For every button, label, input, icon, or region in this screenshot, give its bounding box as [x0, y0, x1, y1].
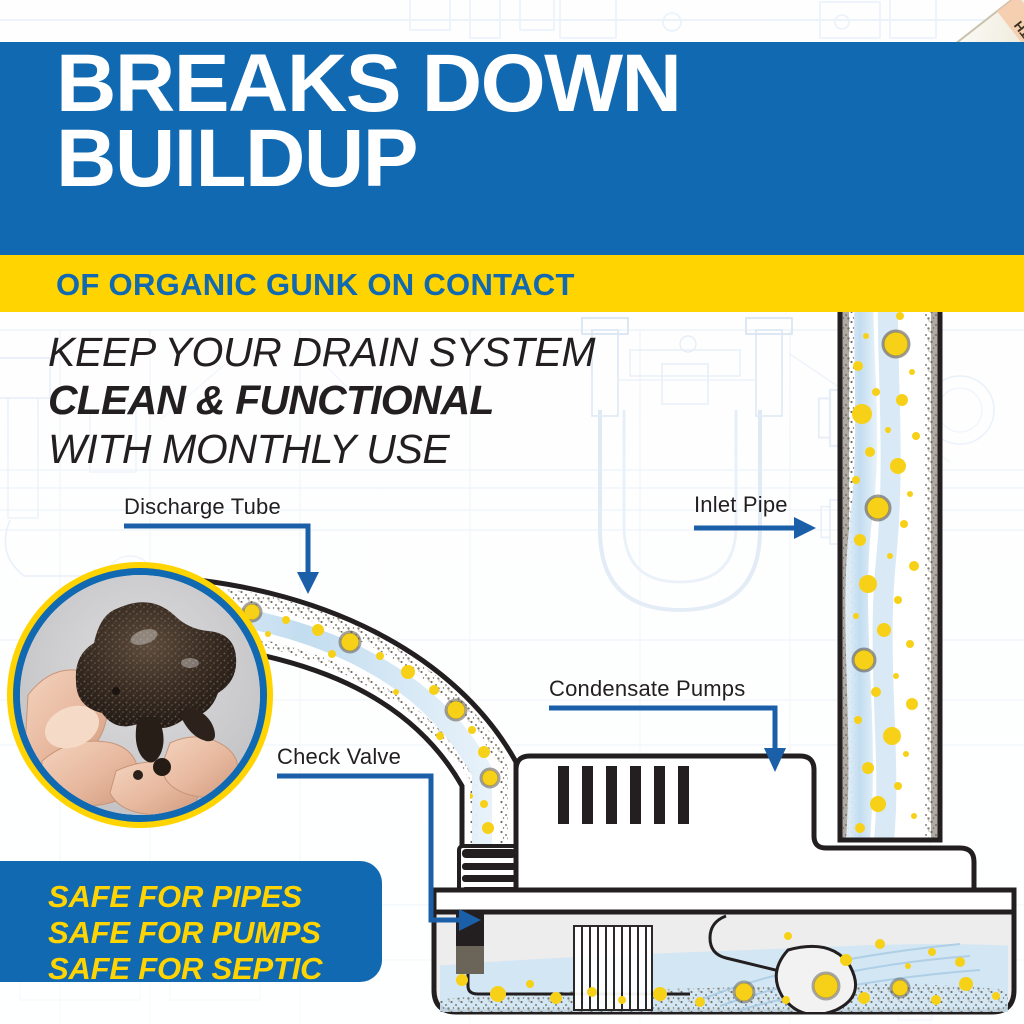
badge-line-1: SAFE FOR PIPES — [48, 879, 322, 915]
callout-label-inlet-pipe: Inlet Pipe — [694, 492, 824, 518]
tagline-block: KEEP YOUR DRAIN SYSTEM CLEAN & FUNCTIONA… — [48, 328, 668, 473]
condensate-pumps-leader-arrow — [549, 702, 789, 782]
condensate-pump-graphic — [434, 756, 1014, 1015]
sludge-photo-inset — [7, 562, 273, 828]
page-headline: BREAKS DOWN BUILDUP — [56, 46, 954, 197]
tagline-line-2: CLEAN & FUNCTIONAL — [48, 376, 668, 424]
subheadline-text: OF ORGANIC GUNK ON CONTACT — [56, 267, 575, 303]
callout-label-discharge-tube: Discharge Tube — [124, 494, 324, 520]
callout-inlet-pipe: Inlet Pipe — [694, 492, 824, 544]
photo-inset-image — [20, 575, 260, 815]
infographic-canvas: NAL STRENGTH — [0, 0, 1024, 1024]
callout-condensate-pumps: Condensate Pumps — [549, 676, 789, 782]
callout-label-condensate-pumps: Condensate Pumps — [549, 676, 789, 702]
inlet-pipe-leader-arrow — [694, 518, 824, 544]
badge-line-2: SAFE FOR PUMPS — [48, 915, 322, 951]
tagline-line-1: KEEP YOUR DRAIN SYSTEM — [48, 328, 668, 376]
photo-inset-ring — [13, 568, 267, 822]
callout-label-check-valve: Check Valve — [277, 744, 507, 770]
badge-line-3: SAFE FOR SEPTIC — [48, 951, 322, 987]
safety-badge: SAFE FOR PIPES SAFE FOR PUMPS SAFE FOR S… — [0, 861, 382, 982]
tagline-line-3: WITH MONTHLY USE — [48, 425, 668, 473]
